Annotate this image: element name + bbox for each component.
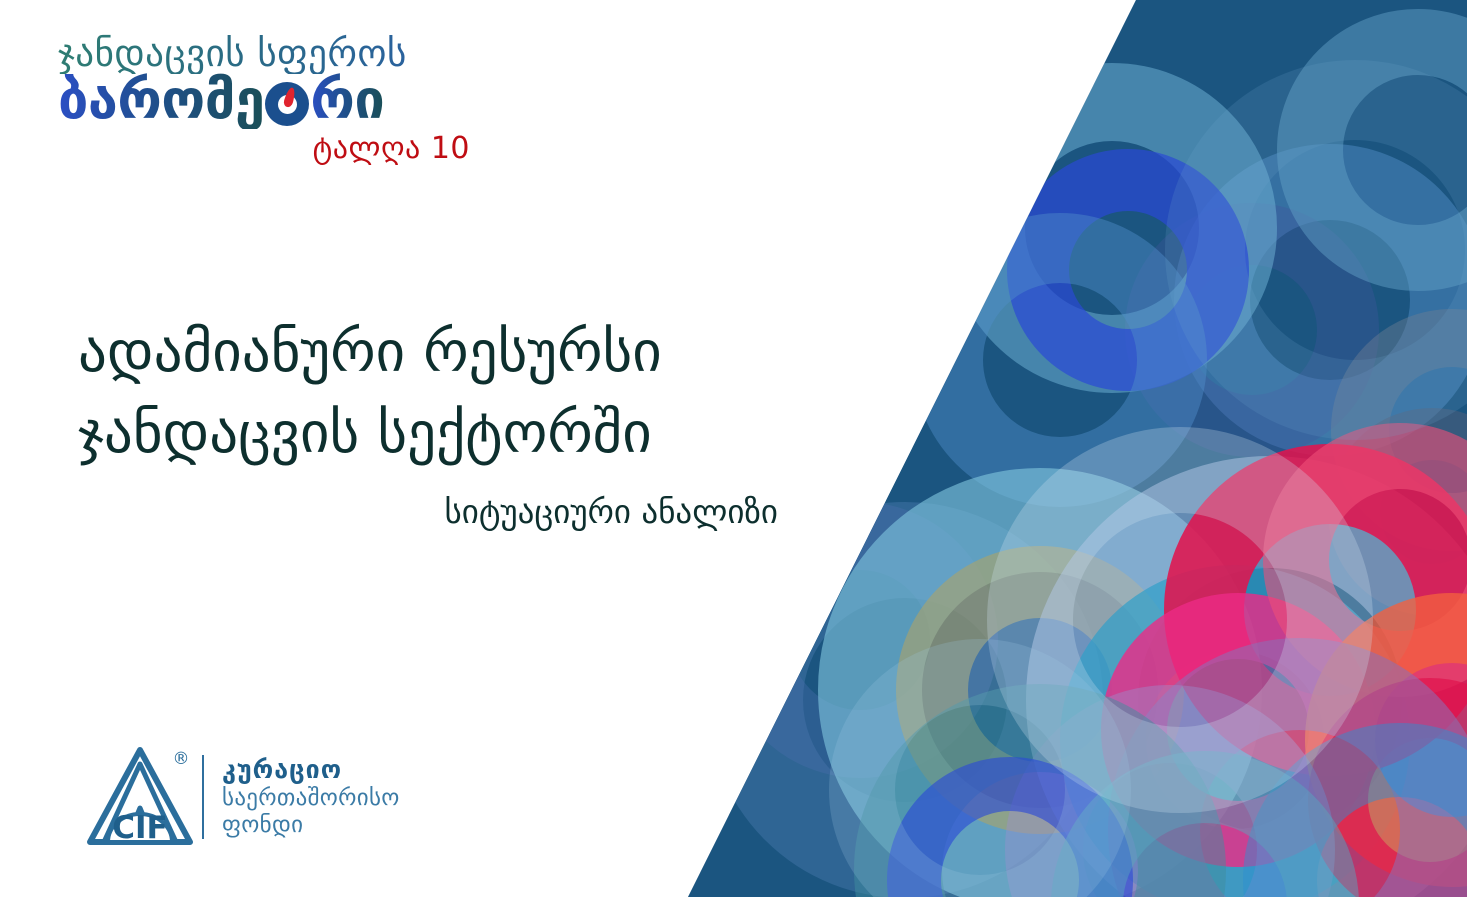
curatio-foundation-logo: CIF ® კურაციო საერთაშორისო ფონდი	[84, 742, 400, 852]
presentation-title-slide: #HSBarometer ჯანდაცვის სფეროს ბარომე რი …	[0, 0, 1467, 897]
logo-barometer-prefix: ბარომე	[58, 72, 264, 129]
foundation-sub-line-1: საერთაშორისო	[222, 785, 400, 812]
cif-triangle-icon: CIF ®	[84, 742, 196, 852]
wave-number-label: ტალღა 10	[58, 131, 478, 166]
cif-wordmark: CIF	[112, 810, 167, 846]
foundation-name-block: კურაციო საერთაშორისო ფონდი	[222, 755, 400, 839]
slide-title-block: ადამიანური რესურსი ჯანდაცვის სექტორში სი…	[78, 312, 778, 531]
registered-trademark-icon: ®	[173, 749, 190, 769]
logo-barometer-suffix: რი	[310, 72, 384, 129]
foundation-name: კურაციო	[222, 755, 400, 785]
logo-line-barometer: ბარომე რი	[58, 72, 478, 129]
barometer-gauge-icon	[265, 82, 309, 126]
page-title-line-2: ჯანდაცვის სექტორში	[78, 393, 778, 474]
barometer-logo: ჯანდაცვის სფეროს ბარომე რი ტალღა 10	[58, 34, 478, 166]
page-subtitle: სიტუაციური ანალიზი	[78, 492, 778, 531]
logo-divider	[202, 755, 204, 839]
foundation-sub-line-2: ფონდი	[222, 812, 400, 839]
page-title-line-1: ადამიანური რესურსი	[78, 312, 778, 393]
